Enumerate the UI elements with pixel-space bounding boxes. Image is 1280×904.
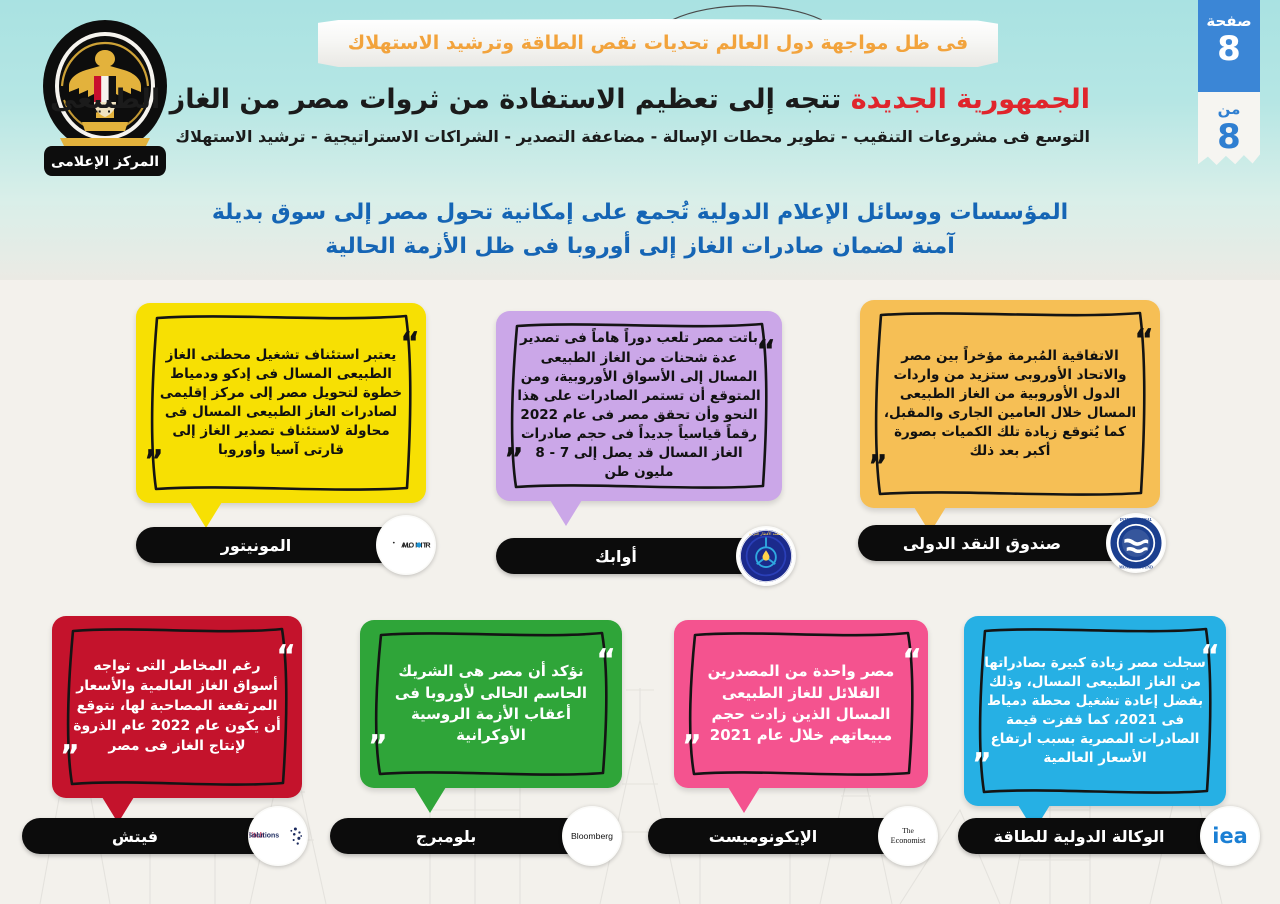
source-bar-economist[interactable]: الإيكونوميست The Economist <box>648 818 926 854</box>
bloomberg-logo: Bloomberg <box>562 806 622 866</box>
quote-open-icon: “ <box>596 646 616 676</box>
banner-headline: فى ظل مواجهة دول العالم تحديات نقص الطاق… <box>318 19 998 67</box>
svg-text:INTERNATIONAL: INTERNATIONAL <box>1120 518 1153 522</box>
oapec-logo: منظمة الأقطار العربية <box>736 526 796 586</box>
quote-open-icon: “ <box>276 642 296 672</box>
the-economist-logo: The Economist <box>879 807 937 865</box>
card-tail <box>728 787 760 813</box>
svg-text:المركز الإعلامى: المركز الإعلامى <box>51 154 159 170</box>
quote-text: رغم المخاطر التى تواجه أسواق الغاز العال… <box>66 657 288 756</box>
quote-open-icon: “ <box>902 646 922 676</box>
quote-close-icon: ” <box>972 750 992 780</box>
bloomberg-logo: Bloomberg <box>563 807 621 865</box>
lede-line-1: المؤسسات ووسائل الإعلام الدولية تُجمع عل… <box>175 196 1105 230</box>
svg-text:Solutions: Solutions <box>249 833 279 840</box>
page-title: الجمهورية الجديدة تتجه إلى تعظيم الاستفا… <box>185 82 1090 118</box>
al-monitor-logo: AL NIT MO R <box>377 516 435 574</box>
svg-text:R: R <box>425 540 431 549</box>
imf-logo: INTERNATIONAL MONETARY FUND <box>1107 514 1165 572</box>
quote-card-imf: الاتفاقية المُبرمة مؤخراً بين مصر والاتح… <box>860 300 1160 508</box>
al-monitor-logo: AL NIT MO R <box>376 515 436 575</box>
card-tail <box>190 502 222 528</box>
card-inner: يعتبر استئناف تشغيل محطتى الغاز الطبيعى … <box>150 315 412 491</box>
page-title-rest: تتجه إلى تعظيم الاستفادة من ثروات مصر من… <box>50 84 841 115</box>
page-label: صفحة <box>1198 12 1260 30</box>
svg-text:MO: MO <box>402 540 414 549</box>
svg-text:MONETARY FUND: MONETARY FUND <box>1119 566 1153 570</box>
iea-logo: iea <box>1201 807 1259 865</box>
quote-open-icon: “ <box>400 329 420 359</box>
economist-logo: The Economist <box>878 806 938 866</box>
card-inner: رغم المخاطر التى تواجه أسواق الغاز العال… <box>66 628 288 786</box>
card-tail <box>550 500 582 526</box>
quote-close-icon: ” <box>868 452 888 482</box>
svg-text:The: The <box>902 826 914 835</box>
quote-card-al-monitor: يعتبر استئناف تشغيل محطتى الغاز الطبيعى … <box>136 303 426 503</box>
card-inner: مصر واحدة من المصدرين القلائل للغاز الطب… <box>688 632 914 776</box>
source-bar-bloomberg[interactable]: بلومبرج Bloomberg <box>330 818 610 854</box>
source-bar-al-monitor[interactable]: المونيتور AL NIT MO R <box>136 527 424 563</box>
quote-open-icon: “ <box>1134 326 1154 356</box>
page-of-label: من <box>1198 100 1260 118</box>
svg-text:Bloomberg: Bloomberg <box>571 831 613 841</box>
quote-card-fitch: رغم المخاطر التى تواجه أسواق الغاز العال… <box>52 616 302 798</box>
card-inner: الاتفاقية المُبرمة مؤخراً بين مصر والاتح… <box>874 312 1146 496</box>
source-bar-fitch[interactable]: فيتش Fitch Solutions <box>22 818 296 854</box>
quote-text: الاتفاقية المُبرمة مؤخراً بين مصر والاتح… <box>874 347 1146 462</box>
card-inner: سجلت مصر زيادة كبيرة بصادراتها من الغاز … <box>978 628 1212 794</box>
quote-card-iea: سجلت مصر زيادة كبيرة بصادراتها من الغاز … <box>964 616 1226 806</box>
quote-close-icon: ” <box>368 732 388 762</box>
quote-text: نؤكد أن مصر هى الشريك الحاسم الحالى لأور… <box>374 661 608 746</box>
fitch-solutions-logo: Fitch Solutions <box>249 807 307 865</box>
quote-card-bloomberg: نؤكد أن مصر هى الشريك الحاسم الحالى لأور… <box>360 620 622 788</box>
source-bar-oapec[interactable]: أوابك منظمة الأقطار العربية <box>496 538 784 574</box>
quote-close-icon: ” <box>60 742 80 772</box>
page-number: 8 <box>1198 30 1260 68</box>
svg-text:iea: iea <box>1212 824 1247 848</box>
oapec-logo: منظمة الأقطار العربية <box>737 527 795 585</box>
quote-text: سجلت مصر زيادة كبيرة بصادراتها من الغاز … <box>978 654 1212 769</box>
quote-text: مصر واحدة من المصدرين القلائل للغاز الطب… <box>688 661 914 746</box>
quote-text: يعتبر استئناف تشغيل محطتى الغاز الطبيعى … <box>150 346 412 461</box>
quote-close-icon: ” <box>682 732 702 762</box>
quote-open-icon: “ <box>1200 642 1220 672</box>
page-subtitle: التوسع فى مشروعات التنقيب - تطوير محطات … <box>185 127 1090 146</box>
card-inner: نؤكد أن مصر هى الشريك الحاسم الحالى لأور… <box>374 632 608 776</box>
page-indicator-bottom: من 8 <box>1198 92 1260 168</box>
lede-line-2: آمنة لضمان صادرات الغاز إلى أوروبا فى ظل… <box>175 230 1105 264</box>
quote-close-icon: ” <box>504 445 524 475</box>
lede-paragraph: المؤسسات ووسائل الإعلام الدولية تُجمع عل… <box>175 196 1105 264</box>
top-banner: فى ظل مواجهة دول العالم تحديات نقص الطاق… <box>318 5 998 67</box>
imf-logo: INTERNATIONAL MONETARY FUND <box>1106 513 1166 573</box>
card-inner: باتت مصر تلعب دوراً هاماً فى تصدير عدة ش… <box>510 323 768 489</box>
page-indicator: صفحة 8 من 8 <box>1198 0 1260 168</box>
quote-open-icon: “ <box>756 337 776 367</box>
page-title-highlight: الجمهورية الجديدة <box>851 84 1090 115</box>
quote-close-icon: ” <box>144 447 164 477</box>
page-indicator-top: صفحة 8 <box>1198 0 1260 92</box>
page-total: 8 <box>1198 118 1260 156</box>
fitch-logo: Fitch Solutions <box>248 806 308 866</box>
svg-text:Economist: Economist <box>891 836 926 845</box>
source-bar-iea[interactable]: الوكالة الدولية للطاقة iea <box>958 818 1248 854</box>
quote-card-oapec: باتت مصر تلعب دوراً هاماً فى تصدير عدة ش… <box>496 311 782 501</box>
infographic-page: المركز الإعلامى فى ظل مواجهة دول العالم … <box>0 0 1280 904</box>
quote-card-economist: مصر واحدة من المصدرين القلائل للغاز الطب… <box>674 620 928 788</box>
quote-text: باتت مصر تلعب دوراً هاماً فى تصدير عدة ش… <box>510 329 768 482</box>
source-bar-imf[interactable]: صندوق النقد الدولى INTERNATIONAL MONETAR… <box>858 525 1154 561</box>
card-tail <box>414 787 446 813</box>
iea-logo: iea <box>1200 806 1260 866</box>
